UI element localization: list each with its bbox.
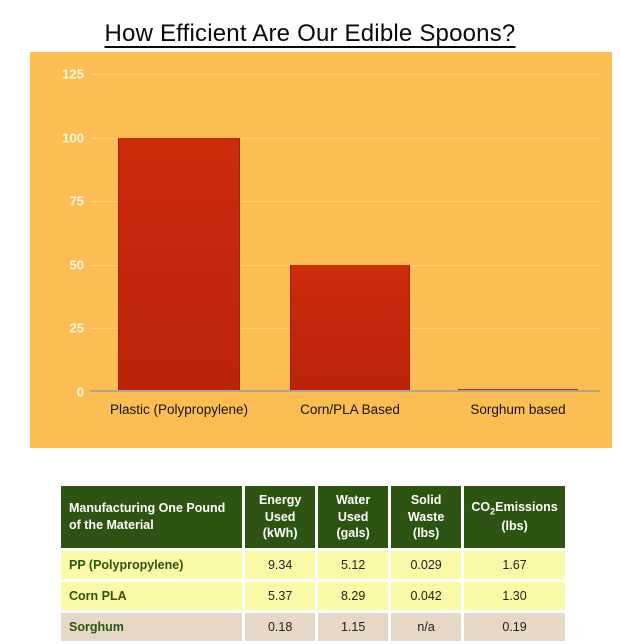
y-tick-label-50: 50 [70, 257, 84, 272]
header-co2-suffix: Emissions [495, 500, 558, 514]
header-energy-line2: Used [265, 510, 296, 524]
table-header-co2-emissions: CO2Emissions (lbs) [464, 486, 565, 548]
cell-water: 5.12 [318, 551, 388, 579]
y-tick-label-25: 25 [70, 321, 84, 336]
table-header-water-used: Water Used (gals) [318, 486, 388, 548]
cell-material: Corn PLA [61, 582, 242, 610]
cell-co2: 1.67 [464, 551, 565, 579]
y-tick-label-125: 125 [62, 67, 84, 82]
chart-plot-area: 125 100 75 50 25 0 Plastic (Polypropylen… [92, 74, 600, 392]
y-tick-label-75: 75 [70, 194, 84, 209]
x-tick-label-sorghum: Sorghum based [470, 402, 565, 417]
header-water-line2: Used [338, 510, 369, 524]
page-title: How Efficient Are Our Edible Spoons? [0, 20, 620, 48]
cell-water: 1.15 [318, 613, 388, 641]
y-tick-label-100: 100 [62, 130, 84, 145]
cell-waste: 0.042 [391, 582, 461, 610]
header-water-line3: (gals) [336, 526, 369, 540]
bar-plastic-polypropylene[interactable] [118, 138, 240, 392]
gridline-125 [92, 74, 600, 75]
table-header-energy-used: Energy Used (kWh) [245, 486, 315, 548]
cell-water: 8.29 [318, 582, 388, 610]
header-energy-line1: Energy [259, 493, 301, 507]
table-row: PP (Polypropylene) 9.34 5.12 0.029 1.67 [61, 551, 565, 579]
cell-material: Sorghum [61, 613, 242, 641]
cell-co2: 1.30 [464, 582, 565, 610]
cell-waste: n/a [391, 613, 461, 641]
cell-energy: 9.34 [245, 551, 315, 579]
header-energy-line3: (kWh) [263, 526, 298, 540]
x-axis-line [90, 390, 600, 392]
y-tick-label-0: 0 [77, 385, 84, 400]
header-material-line1: Manufacturing One Pound [69, 501, 225, 515]
table-row: Corn PLA 5.37 8.29 0.042 1.30 [61, 582, 565, 610]
cell-energy: 0.18 [245, 613, 315, 641]
cell-material: PP (Polypropylene) [61, 551, 242, 579]
cell-waste: 0.029 [391, 551, 461, 579]
header-waste-line2: Waste [408, 510, 444, 524]
x-tick-label-corn-pla: Corn/PLA Based [300, 402, 400, 417]
cell-energy: 5.37 [245, 582, 315, 610]
bar-corn-pla-based[interactable] [290, 265, 410, 392]
table-row: Sorghum 0.18 1.15 n/a 0.19 [61, 613, 565, 641]
bar-chart-panel: 125 100 75 50 25 0 Plastic (Polypropylen… [30, 52, 612, 448]
header-co2-line2: (lbs) [501, 519, 527, 533]
x-tick-label-plastic: Plastic (Polypropylene) [110, 402, 248, 417]
table-header-material: Manufacturing One Pound of the Material [61, 486, 242, 548]
table-header-row: Manufacturing One Pound of the Material … [61, 486, 565, 548]
page-title-text: How Efficient Are Our Edible Spoons? [105, 20, 516, 47]
header-waste-line1: Solid [411, 493, 442, 507]
table-header-solid-waste: Solid Waste (lbs) [391, 486, 461, 548]
cell-co2: 0.19 [464, 613, 565, 641]
header-waste-line3: (lbs) [413, 526, 439, 540]
header-material-line2: of the Material [69, 518, 154, 532]
materials-comparison-table: Manufacturing One Pound of the Material … [58, 483, 568, 644]
header-water-line1: Water [336, 493, 370, 507]
header-co2-prefix: CO [471, 500, 490, 514]
